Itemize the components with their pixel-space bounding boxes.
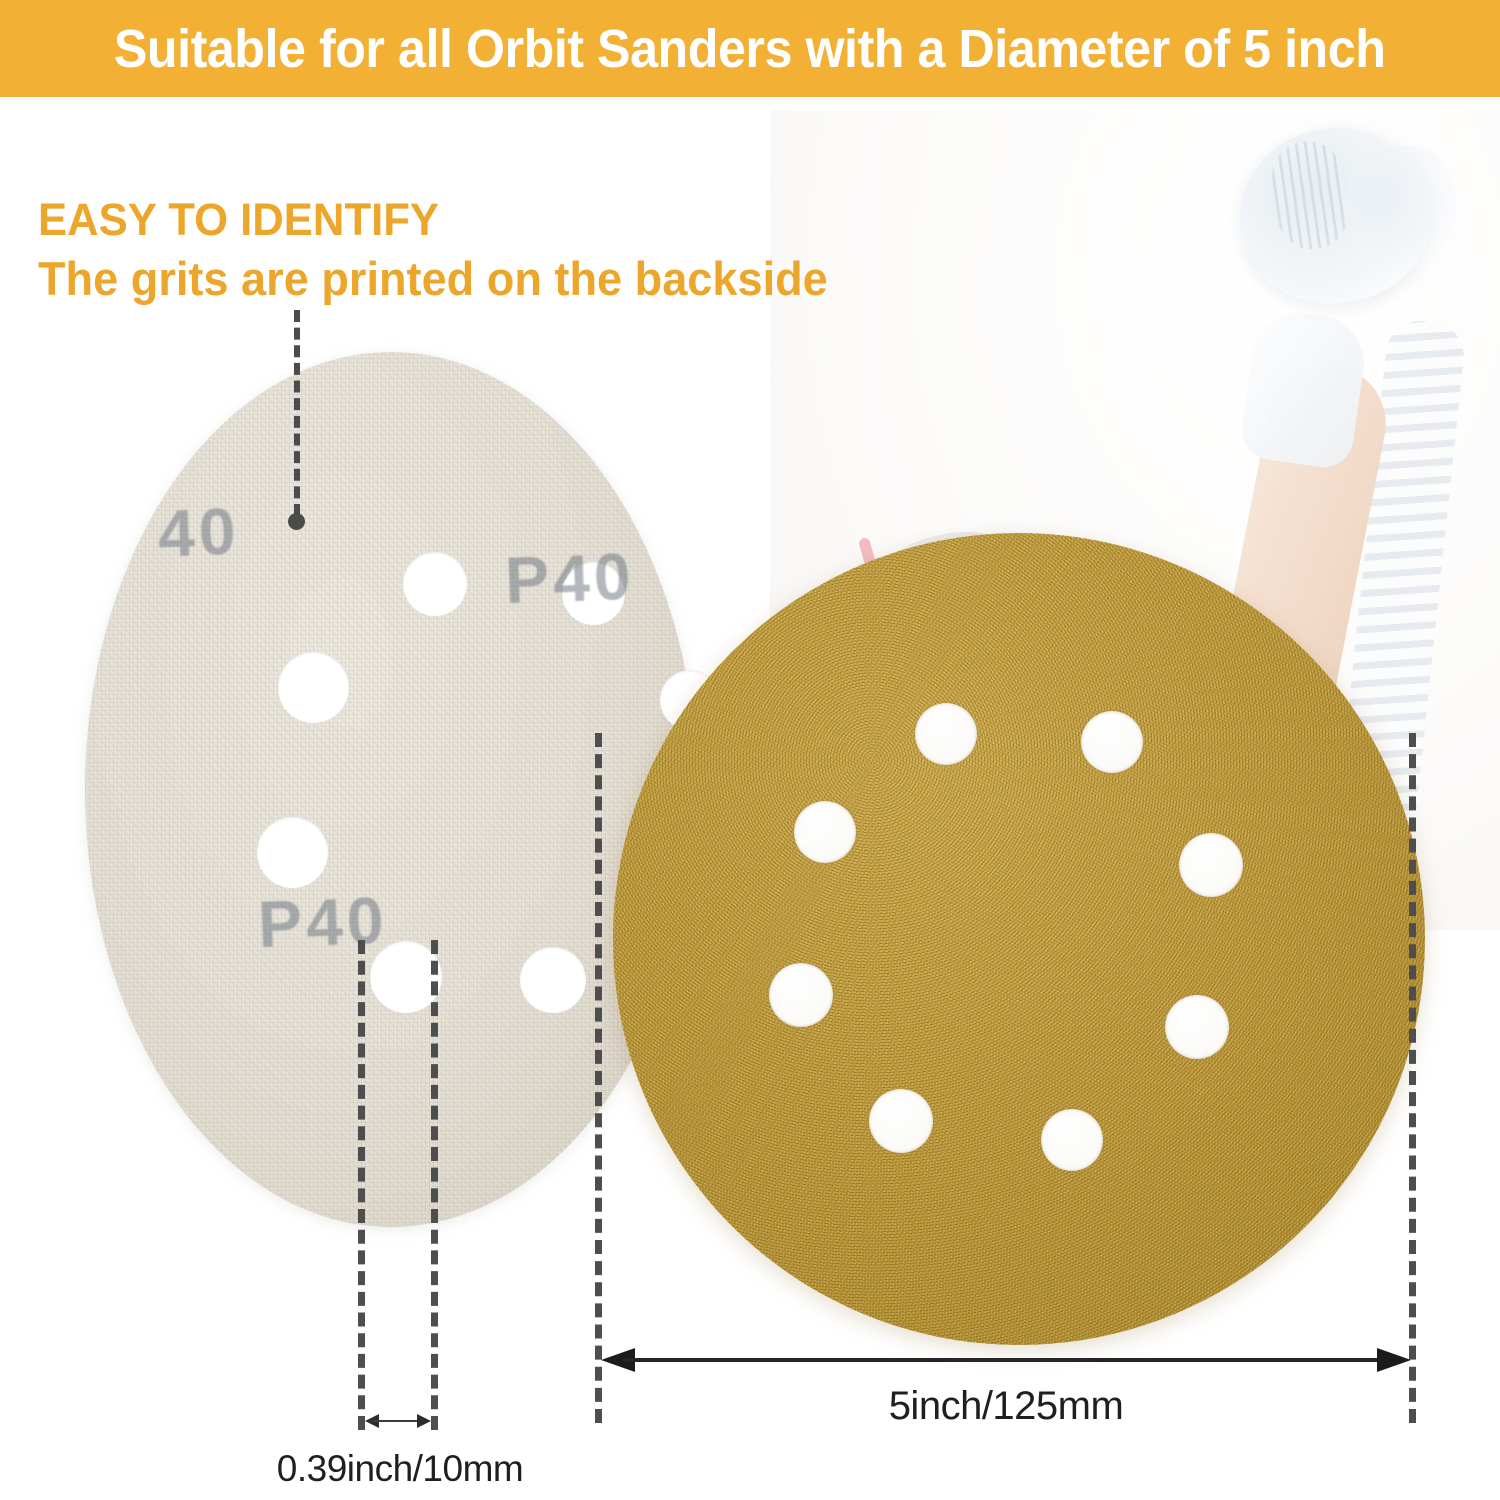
disc-dimension-arrow <box>601 1348 1411 1372</box>
printed-grit-p40-top: P40 <box>504 538 636 618</box>
arrow-head-right-icon <box>1377 1348 1411 1372</box>
backside-hole-3 <box>278 652 349 723</box>
backside-disc <box>85 352 697 1227</box>
headline-block: EASY TO IDENTIFY The grits are printed o… <box>38 196 938 308</box>
disc-dimension-label: 5inch/125mm <box>601 1384 1411 1429</box>
banner-title: Suitable for all Orbit Sanders with a Di… <box>114 22 1386 76</box>
gold-hole-2 <box>1081 711 1143 773</box>
guide-line-hole-right <box>431 940 438 1430</box>
gold-hole-1 <box>915 703 977 765</box>
guide-line-disc-right <box>1409 733 1416 1423</box>
headline-primary: EASY TO IDENTIFY <box>38 196 911 243</box>
backside-hole-5 <box>257 817 328 888</box>
printed-grit-40: 40 <box>157 493 241 572</box>
arrow-bar <box>623 1358 1389 1362</box>
gold-hole-6 <box>1165 995 1229 1059</box>
backside-hole-7 <box>520 947 586 1013</box>
headline-secondary: The grits are printed on the backside <box>38 251 902 307</box>
gold-grit-disc <box>613 533 1425 1345</box>
guide-line-hole-left <box>358 940 365 1430</box>
leader-line <box>294 310 300 516</box>
gold-hole-3 <box>794 801 856 863</box>
printed-grit-p40-bottom: P40 <box>257 882 389 962</box>
gold-hole-4 <box>1179 833 1243 897</box>
gold-hole-8 <box>1041 1109 1103 1171</box>
arrow-head-right-icon <box>417 1414 431 1428</box>
header-banner: Suitable for all Orbit Sanders with a Di… <box>0 0 1500 97</box>
hole-dimension-arrow <box>365 1414 431 1428</box>
hole-dimension-label: 0.39inch/10mm <box>250 1448 550 1490</box>
backside-hole-1 <box>403 552 467 616</box>
gold-hole-7 <box>869 1089 933 1153</box>
infographic-canvas: Suitable for all Orbit Sanders with a Di… <box>0 0 1500 1500</box>
gold-hole-5 <box>769 963 833 1027</box>
guide-line-disc-left <box>595 733 602 1423</box>
leader-dot <box>288 513 305 530</box>
